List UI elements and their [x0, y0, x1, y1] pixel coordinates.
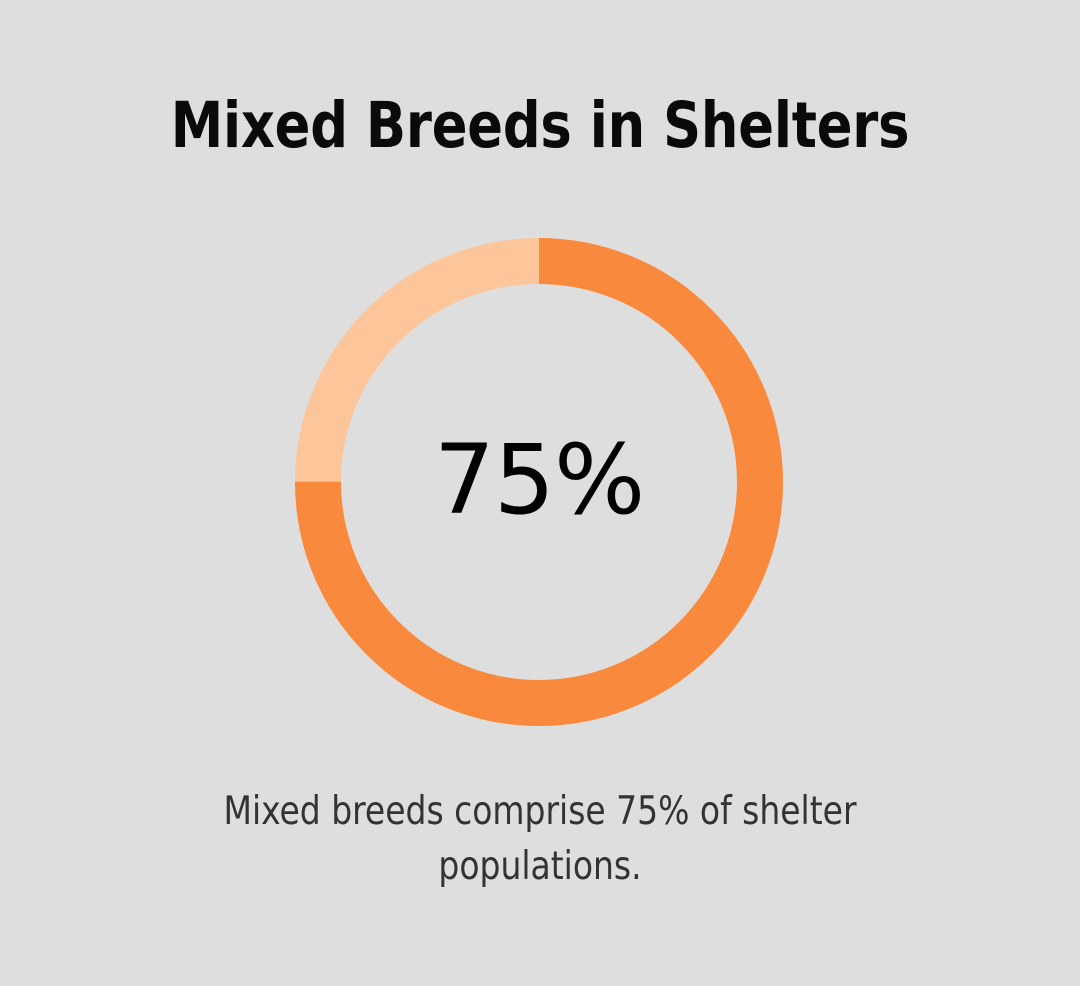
page-title: Mixed Breeds in Shelters — [38, 92, 1042, 160]
donut-gauge-chart: 75% — [295, 238, 783, 726]
donut-center-value: 75% — [295, 238, 783, 726]
chart-caption: Mixed breeds comprise 75% of shelter pop… — [117, 784, 963, 895]
infographic-card: Mixed Breeds in Shelters 75% Mixed breed… — [0, 0, 1080, 986]
